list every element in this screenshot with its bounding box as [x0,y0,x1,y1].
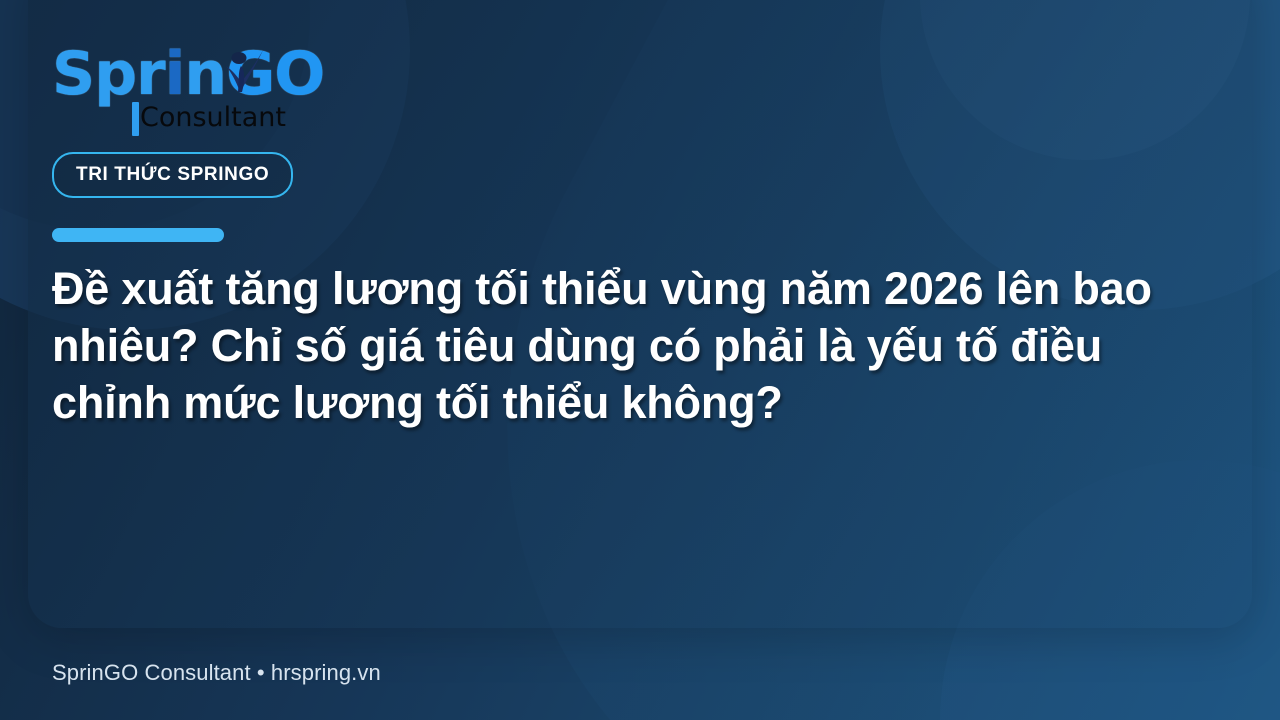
logo-wordmark-part-1: Spr [52,39,165,109]
logo-wordmark-part-2: i [165,39,185,109]
brand-logo[interactable]: SprinGO Consultant [52,44,472,144]
category-badge[interactable]: TRI THỨC SPRINGO [52,152,293,198]
logo-subtitle: Consultant [140,104,286,131]
page-title: Đề xuất tăng lương tối thiểu vùng năm 20… [52,260,1152,431]
content-area: SprinGO Consultant TRI THỨC SPRINGO Đề x… [52,0,1232,720]
logo-accent-bar [132,102,139,136]
logo-wordmark-part-3: n [184,39,226,109]
footer-attribution: SprinGO Consultant • hrspring.vn [52,660,381,686]
logo-wordmark-part-4: GO [226,39,324,109]
logo-wordmark: SprinGO [52,44,472,104]
slide-canvas: SprinGO Consultant TRI THỨC SPRINGO Đề x… [0,0,1280,720]
accent-bar [52,228,224,242]
